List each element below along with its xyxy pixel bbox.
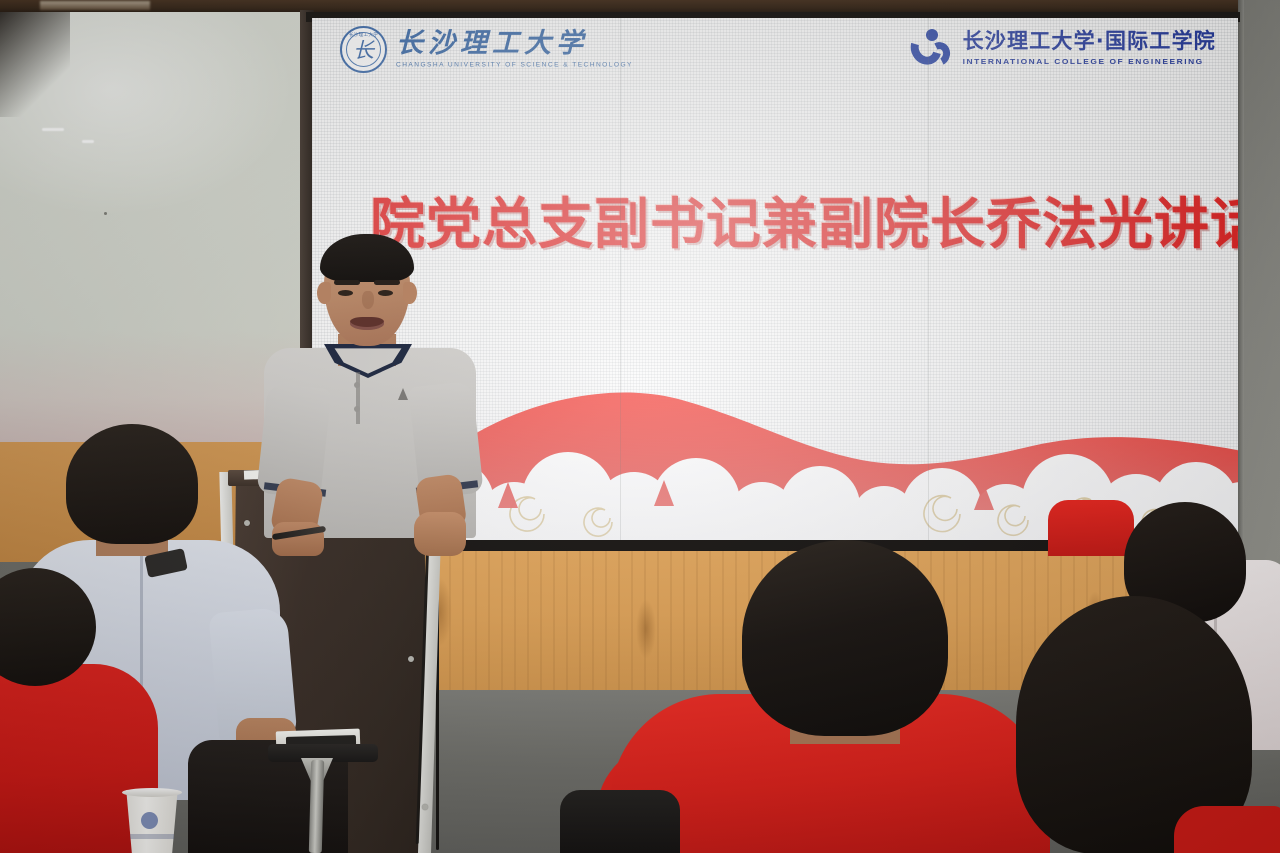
whiteboard-mark: [42, 128, 64, 131]
ceiling-light-reflection: [40, 1, 150, 10]
paper-cup-rim: [122, 788, 182, 797]
audience-head: [742, 540, 948, 736]
speaker-person: [246, 236, 492, 536]
audience-red-shoulder: [1048, 500, 1134, 556]
speaker-mouth: [350, 317, 384, 330]
whiteboard-corner-shadow: [0, 12, 70, 117]
podium-screw: [422, 804, 428, 810]
speaker-ear-left: [317, 282, 331, 304]
speaker-hair: [320, 234, 414, 282]
podium-screw: [408, 656, 414, 662]
speaker-button: [354, 406, 360, 412]
speaker-placket: [356, 372, 360, 424]
speaker-nose: [362, 291, 374, 309]
led-panel-seam: [620, 18, 621, 546]
led-panel-seam: [928, 18, 929, 546]
speaker-ear-right: [403, 282, 417, 304]
whiteboard-mark: [82, 140, 94, 143]
conference-photo: 长沙理工大学 长 长沙理工大学 CHANGSHA UNIVERSITY OF S…: [0, 0, 1280, 853]
whiteboard-speck: [104, 212, 107, 215]
speaker-hand-right: [414, 512, 466, 556]
chair-backrest: [560, 790, 680, 853]
paper-cup-logo: [141, 812, 158, 829]
audience-red-edge: [1174, 806, 1280, 853]
speaker-eye-right: [378, 290, 393, 296]
speaker-eye-left: [338, 290, 353, 296]
table-pedestal: [309, 760, 324, 853]
paper-cup-band: [130, 834, 174, 839]
speaker-brow-right: [374, 280, 400, 285]
audience-head: [66, 424, 198, 544]
speaker-button: [354, 382, 360, 388]
wood-grain-knot: [636, 599, 656, 659]
speaker-brow-left: [334, 280, 360, 285]
